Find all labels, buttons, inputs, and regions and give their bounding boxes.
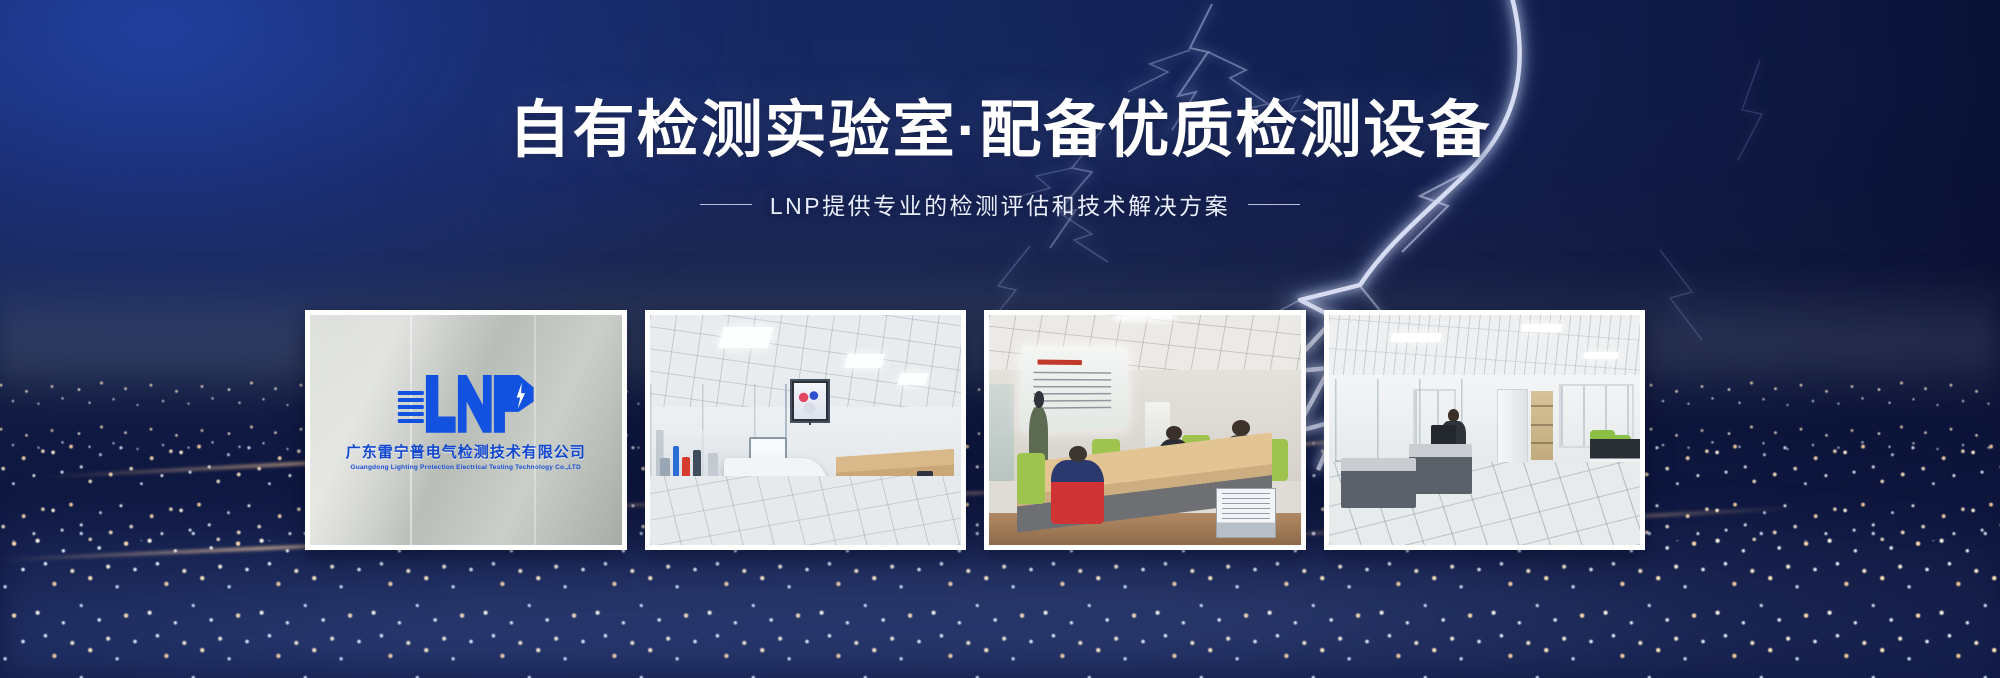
banner-copy: 自有检测实验室·配备优质检测设备 LNP提供专业的检测评估和技术解决方案 [0,96,2000,221]
ceiling-light-icon [844,354,885,368]
office-ceiling [1329,315,1641,379]
page-title: 自有检测实验室·配备优质检测设备 [0,96,2000,165]
laptop-icon [1216,488,1275,539]
ceiling-light-icon [718,327,774,348]
gallery-photo-company-logo-wall[interactable]: 广东雷宁普电气检测技术有限公司 Guangdong Lighting Prote… [305,310,627,550]
photo-image-office: 办公区域 开放式工位 [1329,315,1641,545]
lab-floor [650,476,962,545]
logo-letter-n-icon [458,375,492,433]
photo-image-meeting-room: 会议室技术培训与方案讲解 [989,315,1301,545]
office-desk [1409,444,1471,495]
subtitle-row: LNP提供专业的检测评估和技术解决方案 [0,187,2000,221]
green-chair-icon [1017,453,1045,504]
company-name-cn: 广东雷宁普电气检测技术有限公司 [326,441,606,462]
storage-cabinet [1497,389,1528,467]
photo-image-laboratory: 检测实验室 高压试验设备与控制台 [650,315,962,545]
attendee-person-red-jacket [1051,460,1104,524]
gallery-photo-testing-laboratory[interactable]: 检测实验室 高压试验设备与控制台 [645,310,967,550]
ceiling-light-icon [1521,324,1563,332]
photo-gallery: 广东雷宁普电气检测技术有限公司 Guangdong Lighting Prote… [305,310,1645,550]
photo-image-logo-wall: 广东雷宁普电气检测技术有限公司 Guangdong Lighting Prote… [310,315,622,545]
ceiling-light-icon [1390,333,1442,342]
logo-bars-icon [398,385,424,429]
gallery-photo-meeting-room[interactable]: 会议室技术培训与方案讲解 [984,310,1306,550]
logo-letter-p-icon [494,375,534,433]
ceiling-light-icon [897,373,928,385]
bookshelf [1531,391,1553,460]
logo-lightning-icon [515,383,526,409]
office-desk [1341,458,1416,509]
hero-banner: 自有检测实验室·配备优质检测设备 LNP提供专业的检测评估和技术解决方案 [0,0,2000,678]
meeting-room-door [989,384,1014,481]
rule-right-icon [1248,204,1300,205]
ceiling-light-icon [1583,352,1619,359]
company-name-en: Guangdong Lighting Protection Electrical… [326,464,606,471]
lnp-logo-icon [326,371,606,433]
page-subtitle: LNP提供专业的检测评估和技术解决方案 [770,187,1230,221]
rule-left-icon [700,204,752,205]
company-logo: 广东雷宁普电气检测技术有限公司 Guangdong Lighting Prote… [326,371,606,471]
wall-monitor-icon [790,379,830,423]
logo-letter-l-icon [426,375,456,433]
gallery-photo-office-area[interactable]: 办公区域 开放式工位 [1324,310,1646,550]
